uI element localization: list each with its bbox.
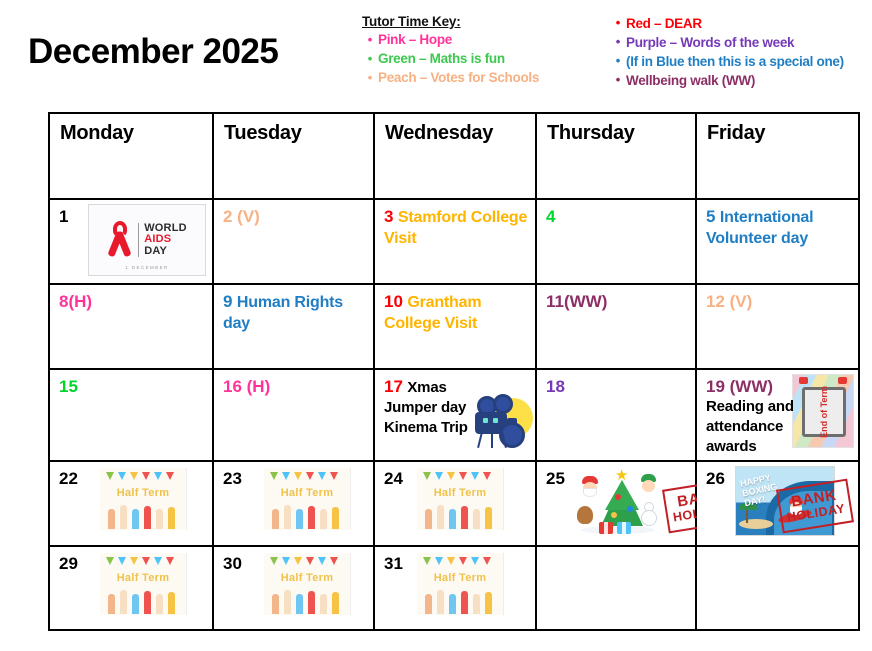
- half-term-label: Half Term: [100, 572, 186, 584]
- calendar-week-row: 15 16 (H) 17 Xmas Jumper day Kinema Trip: [49, 369, 859, 461]
- day-cell-3[interactable]: 3 Stamford College Visit: [374, 199, 536, 284]
- half-term-label: Half Term: [417, 487, 503, 499]
- weekday-header-monday: Monday: [49, 113, 213, 199]
- weekday-header-tuesday: Tuesday: [213, 113, 374, 199]
- key-item-red: • Red – DEAR: [610, 14, 868, 33]
- bullet-icon: •: [610, 71, 626, 89]
- gift-icon: [617, 522, 631, 534]
- gift-icon: [599, 522, 613, 534]
- day-number: 16 (H): [223, 377, 270, 396]
- day-cell-31[interactable]: 31 Half Term: [374, 546, 536, 630]
- day-cell-29[interactable]: 29 Half Term: [49, 546, 213, 630]
- day-number: 23: [223, 469, 242, 488]
- weekday-label: Tuesday: [214, 114, 373, 145]
- day-number: 9: [223, 292, 232, 311]
- tutor-time-key-heading: Tutor Time Key:: [362, 14, 602, 29]
- half-term-image: Half Term: [417, 553, 504, 615]
- day-number: 25: [546, 469, 565, 488]
- day-number: 12 (V): [706, 292, 752, 311]
- day-number: 3: [384, 207, 393, 226]
- calendar-page: December 2025 Tutor Time Key: • Pink – H…: [0, 0, 872, 651]
- page-title: December 2025: [28, 32, 278, 72]
- star-icon: ★: [615, 468, 628, 483]
- day-cell-12[interactable]: 12 (V): [696, 284, 859, 369]
- half-term-image: Half Term: [100, 468, 187, 530]
- half-term-image: Half Term: [100, 553, 187, 615]
- aids-subtitle: 1 DECEMBER: [89, 265, 205, 270]
- day-cell-25[interactable]: 25 ★: [536, 461, 696, 546]
- day-cell-17[interactable]: 17 Xmas Jumper day Kinema Trip: [374, 369, 536, 461]
- key-item-label: Peach – Votes for Schools: [378, 69, 539, 87]
- palm-tree-icon: [746, 507, 748, 523]
- bullet-icon: •: [610, 14, 626, 32]
- day-event: International Volunteer day: [706, 209, 813, 247]
- day-cell-23[interactable]: 23 Half Term: [213, 461, 374, 546]
- half-term-label: Half Term: [100, 487, 186, 499]
- tutor-time-key-right: • Red – DEAR • Purple – Words of the wee…: [610, 14, 868, 90]
- day-cell-26[interactable]: 26 HAPPY BOXING DAY!: [696, 461, 859, 546]
- half-term-label: Half Term: [264, 487, 350, 499]
- key-item-green: • Green – Maths is fun: [362, 50, 602, 68]
- day-event-line2: Kinema Trip: [384, 418, 492, 438]
- snowman-icon: [641, 502, 657, 526]
- day-number: 8(H): [59, 292, 92, 311]
- end-of-term-label: End of Term: [819, 386, 829, 438]
- day-cell-10[interactable]: 10 Grantham College Visit: [374, 284, 536, 369]
- day-cell-empty-thursday[interactable]: [536, 546, 696, 630]
- day-cell-11[interactable]: 11(WW): [536, 284, 696, 369]
- day-cell-5[interactable]: 5 International Volunteer day: [696, 199, 859, 284]
- day-cell-empty-friday[interactable]: [696, 546, 859, 630]
- half-term-image: Half Term: [264, 468, 351, 530]
- weekday-header-friday: Friday: [696, 113, 859, 199]
- key-item-label: Pink – Hope: [378, 31, 452, 49]
- weekday-label: Wednesday: [375, 114, 535, 145]
- key-item-label: Purple – Words of the week: [626, 33, 794, 52]
- day-cell-9[interactable]: 9 Human Rights day: [213, 284, 374, 369]
- bullet-icon: •: [362, 50, 378, 68]
- day-cell-4[interactable]: 4: [536, 199, 696, 284]
- day-cell-19[interactable]: 19 (WW) Reading and attendance awards En…: [696, 369, 859, 461]
- red-ribbon-icon: [107, 221, 133, 259]
- day-number: 19 (WW): [706, 376, 806, 397]
- world-aids-day-image: WORLD AIDS DAY 1 DECEMBER: [88, 204, 206, 276]
- calendar-table: Monday Tuesday Wednesday Thursday Friday…: [48, 112, 860, 631]
- calendar-week-row: 8(H) 9 Human Rights day 10 Grantham Coll…: [49, 284, 859, 369]
- day-number: 18: [546, 377, 565, 396]
- calendar-week-row: 29 Half Term 30 Half Term: [49, 546, 859, 630]
- key-item-wellbeing: • Wellbeing walk (WW): [610, 71, 868, 90]
- day-number: 17: [384, 377, 403, 396]
- day-number: 31: [384, 554, 403, 573]
- day-cell-16[interactable]: 16 (H): [213, 369, 374, 461]
- day-cell-18[interactable]: 18: [536, 369, 696, 461]
- day-number: 2 (V): [223, 207, 260, 226]
- weekday-header-wednesday: Wednesday: [374, 113, 536, 199]
- day-event: Stamford College Visit: [384, 209, 527, 247]
- day-number: 10: [384, 292, 403, 311]
- day-cell-24[interactable]: 24 Half Term: [374, 461, 536, 546]
- weekday-header-thursday: Thursday: [536, 113, 696, 199]
- day-cell-30[interactable]: 30 Half Term: [213, 546, 374, 630]
- key-item-peach: • Peach – Votes for Schools: [362, 69, 602, 87]
- day-number: 5: [706, 207, 715, 226]
- half-term-label: Half Term: [417, 572, 503, 584]
- day-cell-8[interactable]: 8(H): [49, 284, 213, 369]
- key-item-label: Green – Maths is fun: [378, 50, 505, 68]
- aids-line3: DAY: [144, 246, 187, 258]
- calendar-week-row: 22 Half Term 23 Half Term: [49, 461, 859, 546]
- day-cell-15[interactable]: 15: [49, 369, 213, 461]
- bullet-icon: •: [362, 31, 378, 49]
- half-term-image: Half Term: [264, 553, 351, 615]
- day-number: 15: [59, 377, 78, 396]
- key-item-blue: • (If in Blue then this is a special one…: [610, 52, 868, 71]
- bullet-icon: •: [610, 52, 626, 70]
- day-event: Human Rights day: [223, 294, 343, 332]
- key-item-pink: • Pink – Hope: [362, 31, 602, 49]
- tutor-time-key-left: Tutor Time Key: • Pink – Hope • Green – …: [362, 14, 602, 87]
- weekday-label: Friday: [697, 114, 858, 145]
- day-number: 24: [384, 469, 403, 488]
- day-number: 1: [59, 207, 68, 226]
- day-number: 30: [223, 554, 242, 573]
- day-event: Reading and attendance awards: [706, 397, 806, 457]
- day-number: 4: [546, 207, 555, 226]
- weekday-label: Thursday: [537, 114, 695, 145]
- key-item-label: Wellbeing walk (WW): [626, 71, 755, 90]
- calendar-header-row: Monday Tuesday Wednesday Thursday Friday: [49, 113, 859, 199]
- key-item-label: Red – DEAR: [626, 14, 702, 33]
- bullet-icon: •: [610, 33, 626, 51]
- day-cell-2[interactable]: 2 (V): [213, 199, 374, 284]
- weekday-label: Monday: [50, 114, 212, 145]
- calendar-week-row: 1 WORLD AIDS DAY 1 DECEMBER: [49, 199, 859, 284]
- day-number: 11(WW): [546, 292, 607, 311]
- gingerbread-icon: [577, 506, 593, 524]
- day-number: 29: [59, 554, 78, 573]
- day-cell-22[interactable]: 22 Half Term: [49, 461, 213, 546]
- day-number: 26: [706, 469, 725, 488]
- half-term-label: Half Term: [264, 572, 350, 584]
- christmas-tree-image: ★: [575, 466, 661, 538]
- day-cell-1[interactable]: 1 WORLD AIDS DAY 1 DECEMBER: [49, 199, 213, 284]
- half-term-image: Half Term: [417, 468, 504, 530]
- day-number: 22: [59, 469, 78, 488]
- key-item-label: (If in Blue then this is a special one): [626, 52, 844, 71]
- key-item-purple: • Purple – Words of the week: [610, 33, 868, 52]
- bullet-icon: •: [362, 69, 378, 87]
- santa-icon: [581, 476, 599, 498]
